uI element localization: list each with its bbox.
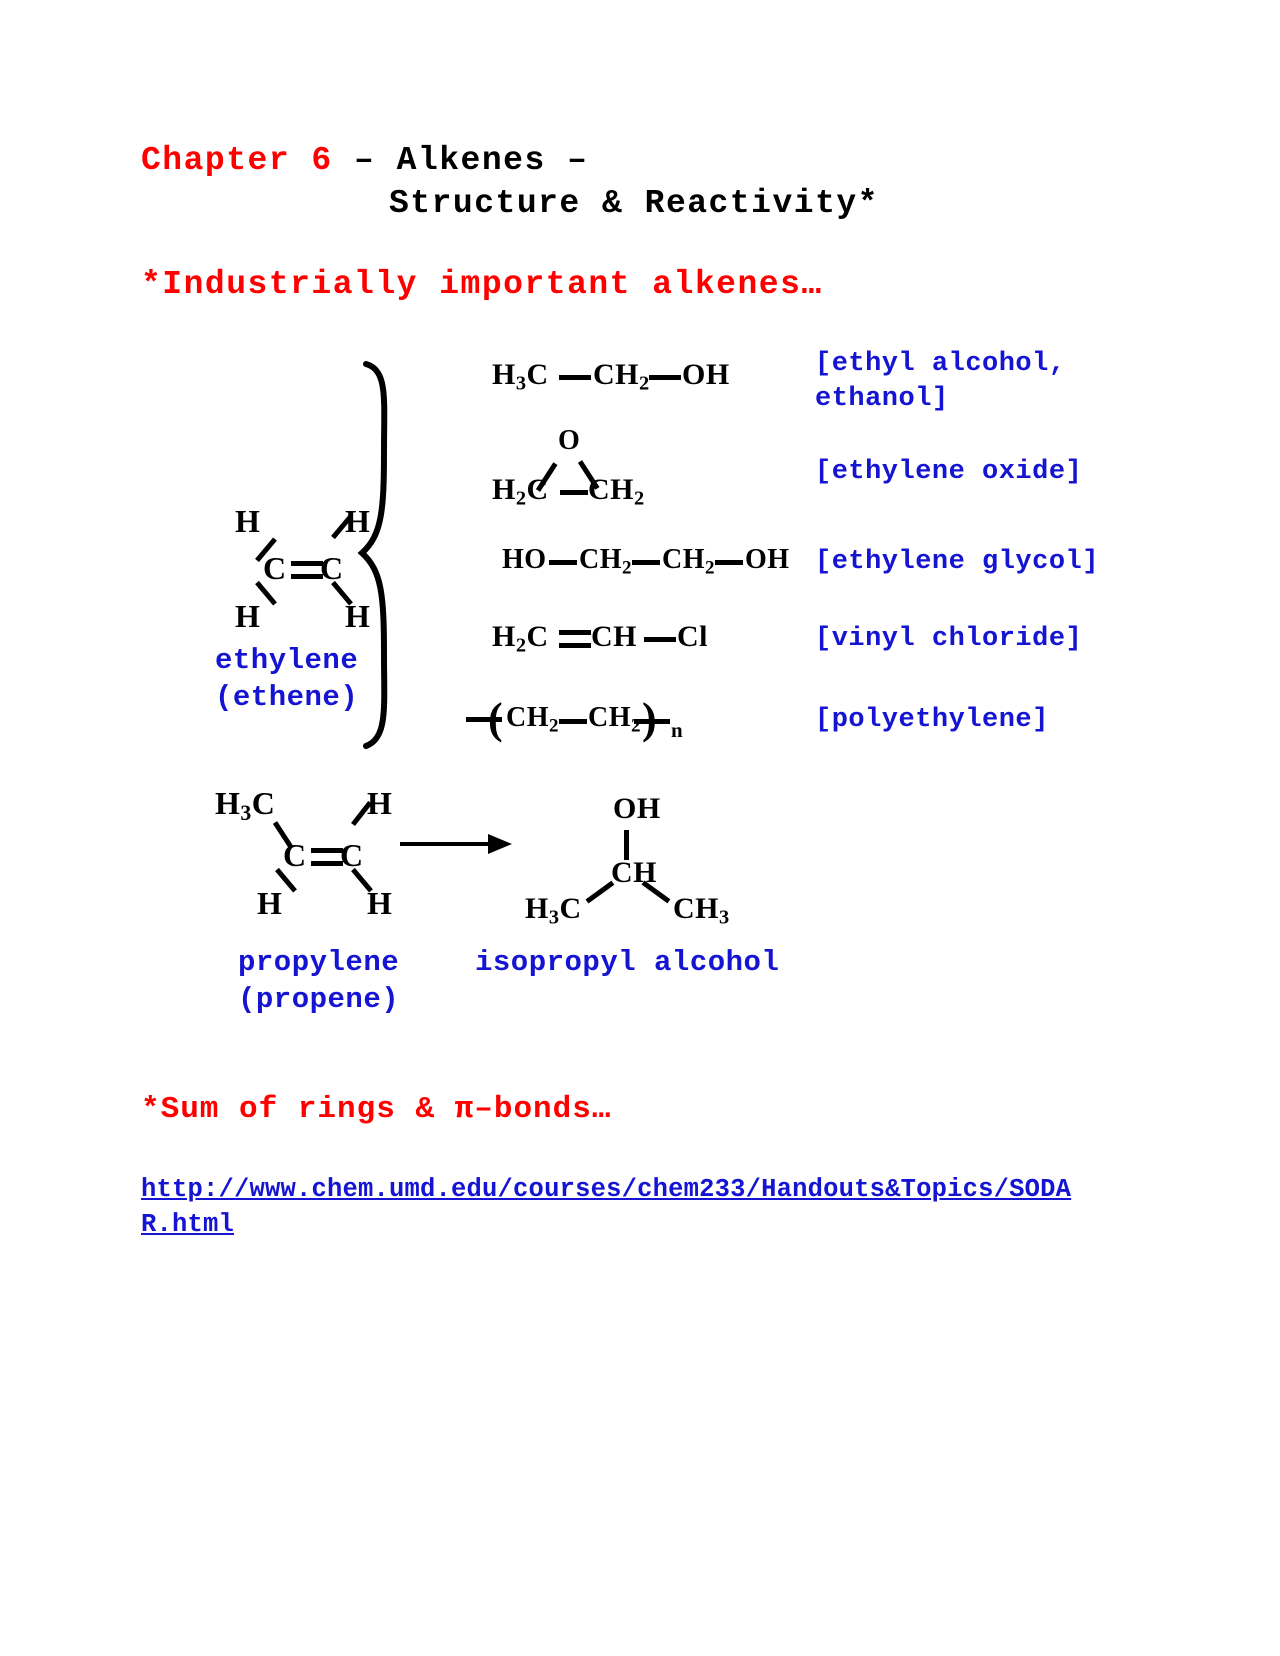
propylene-name: propylene: [238, 946, 399, 979]
isopropyl-bond-left-methyl: [586, 881, 615, 904]
label-vinyl-chloride: [vinyl chloride]: [815, 622, 1082, 657]
propylene-methyl-top-left: H3C: [215, 785, 275, 826]
curly-brace: [358, 360, 428, 750]
vinyl-chloride-bond-cl: [644, 637, 676, 642]
propylene-name-label: propylene(propene): [238, 944, 399, 1018]
propylene-alt-name: (propene): [238, 983, 399, 1016]
ethanol-bond-1: [559, 375, 591, 380]
vinyl-chloride-double-bond-lower: [559, 643, 591, 648]
propylene-structure-group: H3C H C C H H: [215, 782, 415, 922]
ethylene-h-bottom-left: H: [235, 598, 260, 635]
page-title-line2: Structure & Reactivity*: [389, 185, 879, 222]
glycol-methylene-1: CH2: [579, 544, 632, 579]
isopropyl-alcohol-structure-group: OH CH H3C CH3: [525, 792, 755, 922]
page-title-line1: Chapter 6 – Alkenes –: [141, 142, 588, 179]
ethanol-methylene-group: CH2: [593, 358, 650, 396]
ethylene-carbon-left: C: [263, 550, 287, 587]
glycol-bond-1: [549, 560, 577, 565]
ethanol-bond-2: [649, 375, 681, 380]
ethylene-oxide-right-carbon: CH2: [588, 473, 645, 511]
propylene-h-bottom-left: H: [257, 885, 282, 922]
propylene-carbon-right: C: [340, 837, 364, 874]
glycol-hydroxyl-left: HO: [502, 544, 547, 576]
section-heading-industrial-alkenes: *Industrially important alkenes…: [141, 266, 823, 303]
vinyl-chloride-methylene: H2C: [492, 620, 549, 658]
vinyl-chloride-methine: CH: [591, 620, 637, 654]
ethylene-oxide-left-carbon: H2C: [492, 473, 549, 511]
ethylene-h-top-left: H: [235, 503, 260, 540]
ethanol-structure-group: H3C CH2 OH: [492, 358, 732, 396]
label-ethyl-alcohol-line1: [ethyl alcohol,: [815, 349, 1066, 379]
ethylene-carbon-right: C: [320, 550, 344, 587]
polyethylene-inner-bond: [559, 719, 587, 724]
polyethylene-structure-group: ( CH2 CH2 ) n: [466, 700, 726, 745]
glycol-methylene-2: CH2: [662, 544, 715, 579]
ethylene-oxide-oxygen: O: [558, 425, 580, 457]
propylene-double-bond-upper: [311, 848, 343, 853]
ethanol-hydroxyl-group: OH: [682, 358, 730, 392]
ethylene-glycol-structure-group: HO CH2 CH2 OH: [502, 544, 802, 582]
label-ethyl-alcohol-line2: ethanol]: [815, 384, 949, 414]
ethylene-double-bond-upper: [291, 561, 323, 566]
reaction-arrow: [400, 832, 515, 856]
isopropyl-name-label: isopropyl alcohol: [475, 944, 779, 981]
glycol-hydroxyl-right: OH: [745, 544, 790, 576]
label-polyethylene: [polyethylene]: [815, 703, 1049, 738]
ethylene-name: ethylene: [215, 644, 358, 677]
label-ethylene-glycol: [ethylene glycol]: [815, 545, 1099, 580]
isopropyl-methyl-left: H3C: [525, 892, 582, 930]
polyethylene-methylene-1: CH2: [506, 702, 559, 737]
ethylene-oxide-structure-group: O H2C CH2: [492, 425, 722, 505]
label-ethylene-oxide: [ethylene oxide]: [815, 455, 1082, 490]
vinyl-chloride-double-bond-upper: [559, 630, 591, 635]
propylene-double-bond-lower: [311, 861, 343, 866]
page-title-subject: – Alkenes –: [333, 142, 589, 179]
ethylene-alt-name: (ethene): [215, 681, 358, 714]
page-title-chapter: Chapter 6: [141, 142, 333, 179]
vinyl-chloride-structure-group: H2C CH Cl: [492, 620, 732, 658]
isopropyl-hydroxyl: OH: [613, 792, 661, 826]
ethanol-methyl-group: H3C: [492, 358, 549, 396]
polyethylene-left-paren: (: [488, 693, 503, 744]
ethylene-name-label: ethylene(ethene): [215, 642, 358, 716]
vinyl-chloride-chlorine: Cl: [677, 620, 708, 654]
ethylene-oxide-bond-bottom: [560, 490, 588, 495]
label-ethyl-alcohol: [ethyl alcohol,ethanol]: [815, 347, 1066, 417]
isopropyl-methyl-right: CH3: [673, 892, 730, 930]
glycol-bond-3: [715, 560, 743, 565]
polyethylene-repeat-subscript: n: [671, 718, 683, 743]
polyethylene-right-bond: [634, 719, 670, 724]
section-heading-sum-of-rings: *Sum of rings & π–bonds…: [141, 1092, 611, 1127]
ethylene-double-bond-lower: [291, 574, 323, 579]
sodar-link[interactable]: http://www.chem.umd.edu/courses/chem233/…: [141, 1172, 1081, 1242]
glycol-bond-2: [632, 560, 660, 565]
